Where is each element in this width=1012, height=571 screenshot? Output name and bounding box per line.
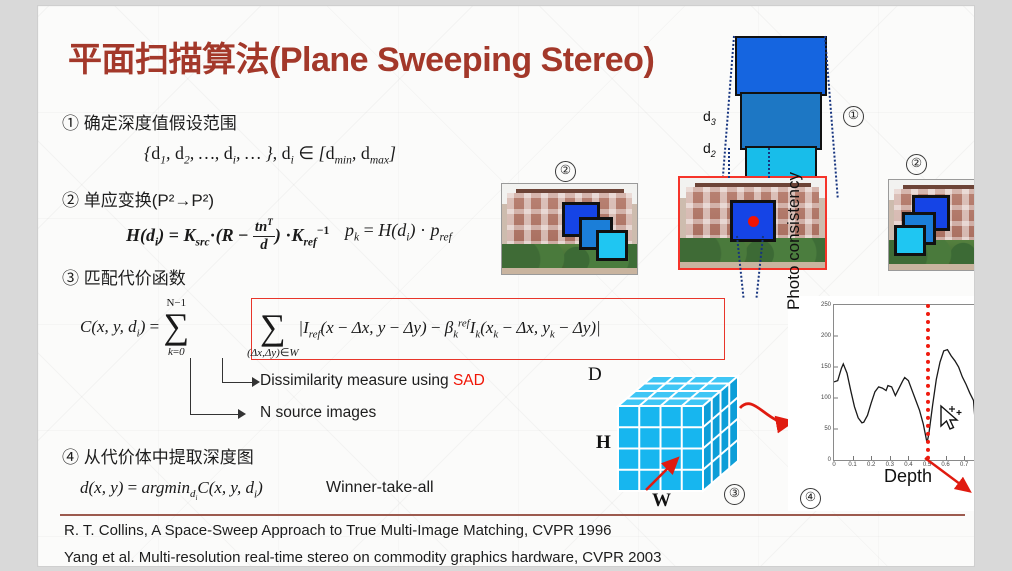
step-3-label: 匹配代价函数	[84, 269, 186, 288]
step-3-marker: ③	[62, 269, 79, 288]
page-title: 平面扫描算法(Plane Sweeping Stereo)	[68, 32, 654, 81]
step-4-label: 从代价体中提取深度图	[84, 448, 254, 467]
chart-series-line	[834, 305, 974, 460]
mouse-cursor-icon	[938, 404, 964, 434]
source-image-left	[501, 183, 638, 275]
step-1-label: 确定深度值假设范围	[84, 114, 237, 133]
cost-volume-figure: D H W ③	[598, 366, 748, 506]
chart-y-axis-label: Photo consistency	[784, 160, 804, 310]
cube-label-depth: D	[588, 364, 602, 386]
chart-ytick-250: 250	[821, 302, 831, 308]
note-winner-take-all: Winner-take-all	[326, 479, 434, 497]
divider-rule	[60, 514, 965, 516]
step-4: ④ 从代价体中提取深度图	[62, 443, 254, 468]
formula-argmin: d(x, y) = argmindiC(x, y, di)	[80, 478, 263, 503]
note-dissimilarity-prefix: Dissimilarity measure using	[260, 372, 453, 389]
formula-depth-set: {d1, d2, …, di, … }, di ∈ [dmin, dmax]	[144, 143, 396, 167]
connector-dissimilarity	[222, 358, 253, 383]
step-2: ② 单应变换(P²→P²)	[62, 186, 214, 211]
sigma-outer: ∑ N−1 k=0	[163, 312, 189, 343]
patch-blue-light	[596, 230, 628, 261]
slide-canvas: 平面扫描算法(Plane Sweeping Stereo) ① 确定深度值假设范…	[38, 6, 974, 566]
step-1-marker: ①	[62, 114, 79, 133]
sigma-inner: ∑ (Δx,Δy)∈W	[260, 313, 286, 344]
reference-2: Yang et al. Multi-resolution real-time s…	[64, 549, 662, 566]
source-image-right	[888, 179, 974, 271]
step-2-label: 单应变换(P²→P²)	[84, 191, 214, 210]
note-dissimilarity: Dissimilarity measure using SAD	[260, 372, 485, 390]
formula-cost-lhs: C(x, y, di) = ∑ N−1 k=0	[80, 312, 189, 343]
reference-image	[678, 176, 827, 270]
chart-ytick-0: 0	[828, 457, 831, 463]
step-3: ③ 匹配代价函数	[62, 264, 186, 289]
marker-circle-2-right: ②	[906, 154, 927, 175]
reference-point-dot	[748, 216, 759, 227]
formula-cost-rhs: ∑ (Δx,Δy)∈W |Iref(x − Δx, y − Δy) − βkre…	[260, 313, 601, 344]
depth-plane-d2	[740, 92, 822, 150]
formula-projection: pk = H(di) · pref	[345, 220, 452, 244]
depth-label-d2: d2	[703, 140, 716, 159]
note-sad: SAD	[453, 372, 485, 389]
chart-ytick-200: 200	[821, 333, 831, 339]
marker-circle-2-left: ②	[555, 161, 576, 182]
step-4-marker: ④	[62, 448, 79, 467]
reference-1: R. T. Collins, A Space-Sweep Approach to…	[64, 522, 612, 539]
depth-label-d3: d3	[703, 108, 716, 127]
chart-ytick-50: 50	[824, 426, 831, 432]
chart-xtick-02: 0.2	[867, 462, 875, 468]
marker-circle-1: ①	[843, 106, 864, 127]
chart-winner-marker-line	[926, 304, 930, 460]
note-n-source: N source images	[260, 404, 376, 422]
marker-circle-4: ④	[800, 488, 821, 509]
ref-ray-up-right	[768, 148, 770, 178]
chart-ytick-150: 150	[821, 364, 831, 370]
chart-ytick-100: 100	[821, 395, 831, 401]
frustum-ray-right	[824, 36, 839, 198]
chart-xtick-0: 0	[832, 462, 835, 468]
chart-xtick-01: 0.1	[848, 462, 856, 468]
chart-x-axis-label: Depth	[884, 466, 932, 487]
photo-consistency-chart: Photo consistency 0 50 100 150 200 250 0…	[788, 296, 974, 511]
step-2-marker: ②	[62, 191, 79, 210]
formula-homography: H(di) = Ksrc·(R − tnTd) ·Kref−1	[126, 218, 329, 254]
step-1: ① 确定深度值假设范围	[62, 109, 237, 134]
ref-ray-up-left	[728, 148, 730, 178]
cube-label-width: W	[652, 490, 671, 512]
marker-circle-3: ③	[724, 484, 745, 505]
patch-blue-light	[894, 225, 926, 256]
cube-label-height: H	[596, 432, 611, 454]
chart-plot-area: 0 50 100 150 200 250 0 0.1 0.2 0.3 0.4 0…	[833, 304, 974, 461]
cost-volume-cube-icon	[598, 366, 748, 506]
depth-plane-d3	[735, 36, 827, 96]
